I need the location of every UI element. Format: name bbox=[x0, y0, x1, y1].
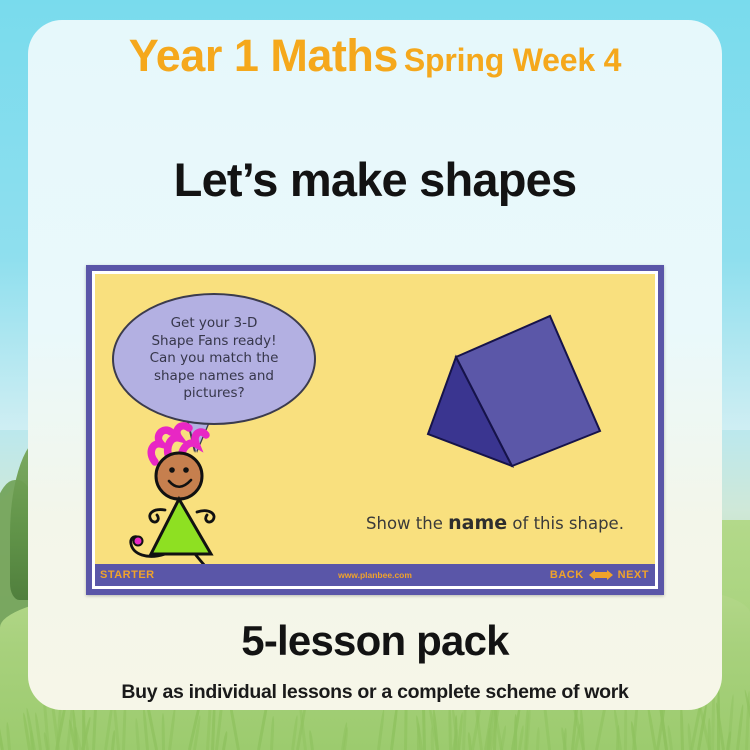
grass-blade bbox=[0, 708, 4, 750]
stick-figure-girl-icon bbox=[107, 414, 237, 564]
grass-blade bbox=[536, 727, 540, 750]
grass-blade bbox=[377, 709, 385, 750]
grass-blade bbox=[616, 725, 620, 750]
grass-blade bbox=[5, 722, 10, 750]
grass-blade bbox=[308, 730, 314, 750]
header-title: Year 1 MathsSpring Week 4 bbox=[0, 30, 750, 82]
pack-subtitle: Buy as individual lessons or a complete … bbox=[0, 681, 750, 704]
slide-navigation-bar: STARTER www.planbee.com BACK NEXT bbox=[95, 564, 655, 586]
pack-title: 5-lesson pack bbox=[0, 617, 750, 665]
grass-blade bbox=[679, 704, 683, 750]
grass-blade bbox=[687, 723, 692, 750]
next-button[interactable]: NEXT bbox=[618, 569, 649, 581]
back-button[interactable]: BACK bbox=[550, 569, 584, 581]
grass-blade bbox=[222, 731, 228, 750]
grass-blade bbox=[135, 718, 140, 750]
caption-after: of this shape. bbox=[507, 514, 624, 533]
grass-blade bbox=[417, 723, 420, 750]
grass-blade bbox=[161, 713, 165, 750]
header-subject: Year 1 Maths bbox=[129, 30, 398, 81]
triangular-prism-shape bbox=[420, 294, 635, 474]
grass-blade bbox=[667, 725, 673, 750]
caption-before: Show the bbox=[366, 514, 448, 533]
grass-blade bbox=[430, 726, 433, 750]
grass-blade bbox=[736, 704, 744, 750]
slide-inner-frame: Get your 3-D Shape Fans ready! Can you m… bbox=[92, 271, 658, 589]
grass-blade bbox=[270, 716, 275, 750]
shape-caption: Show the name of this shape. bbox=[335, 512, 655, 534]
promo-card-canvas: Year 1 MathsSpring Week 4 Let’s make sha… bbox=[0, 0, 750, 750]
slide-content-area: Get your 3-D Shape Fans ready! Can you m… bbox=[95, 274, 655, 564]
header-term: Spring Week 4 bbox=[404, 42, 621, 78]
grass-blade bbox=[646, 703, 657, 750]
grass-blade bbox=[30, 730, 34, 750]
page-title: Let’s make shapes bbox=[0, 152, 750, 207]
slide-nav-controls: BACK NEXT bbox=[550, 569, 649, 581]
speech-bubble-text: Get your 3-D Shape Fans ready! Can you m… bbox=[138, 315, 291, 403]
grass-blade bbox=[168, 706, 176, 750]
slide-preview[interactable]: Get your 3-D Shape Fans ready! Can you m… bbox=[86, 265, 664, 595]
speech-bubble: Get your 3-D Shape Fans ready! Can you m… bbox=[112, 293, 316, 425]
caption-emphasis: name bbox=[448, 512, 507, 534]
double-arrow-icon bbox=[588, 569, 614, 581]
